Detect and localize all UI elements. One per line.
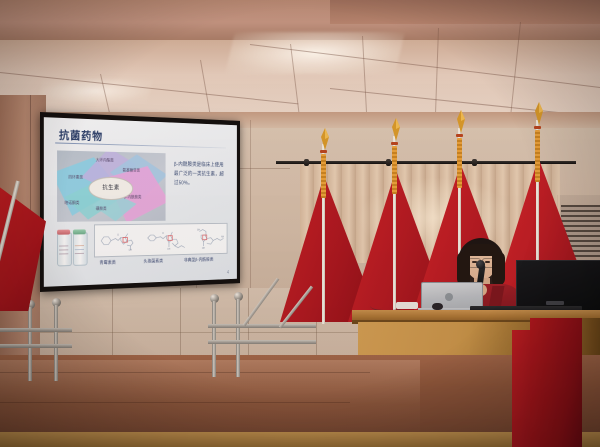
- stand-rail: [208, 324, 316, 328]
- structure-caption: 青霉素类: [99, 260, 115, 266]
- stand-post: [212, 301, 216, 377]
- vial: [73, 232, 88, 266]
- projection-screen-frame: 抗菌药物 大环内酯类 氨基糖苷类 四环素类 喹诺酮类 β-内酰胺类 磺胺类: [40, 112, 240, 292]
- flag-tassel-band: [456, 134, 463, 137]
- diagram-label: 氨基糖苷类: [123, 167, 140, 173]
- diagram-label: 四环素类: [68, 174, 83, 180]
- diagram-center: 抗生素: [89, 177, 134, 200]
- projection-screen: 抗菌药物 大环内酯类 氨基糖苷类 四环素类 喹诺酮类 β-内酰胺类 磺胺类: [44, 117, 237, 287]
- svg-text:OH: OH: [129, 250, 132, 252]
- presentation-slide: 抗菌药物 大环内酯类 氨基糖苷类 四环素类 喹诺酮类 β-内酰胺类 磺胺类: [44, 117, 237, 287]
- foreground-drape: [530, 318, 582, 447]
- slide-title: 抗菌药物: [59, 127, 103, 144]
- monitor-brand-label: [546, 301, 564, 305]
- conference-hall-photo: 抗菌药物 大环内酯类 氨基糖苷类 四环素类 喹诺酮类 β-内酰胺类 磺胺类: [0, 0, 600, 447]
- presenter-hair-side: [457, 252, 470, 286]
- svg-text:OH: OH: [197, 230, 200, 232]
- flag-tassel-band: [534, 126, 541, 129]
- flag-tassel: [535, 130, 540, 182]
- svg-text:O: O: [117, 235, 119, 237]
- stand-post: [236, 299, 240, 377]
- vial-label: [75, 249, 84, 251]
- vial-cap: [73, 229, 86, 234]
- diagram-center-label: 抗生素: [89, 182, 132, 191]
- wall-seam: [180, 288, 181, 356]
- flag-spear-tip-icon: [389, 118, 403, 141]
- microphone-head-icon: [476, 260, 485, 269]
- wall-seam: [40, 332, 370, 333]
- flag-spear-tip-icon: [318, 128, 332, 150]
- wall-seam: [112, 288, 113, 356]
- svg-text:O: O: [162, 233, 164, 235]
- flag-stand: [208, 290, 318, 380]
- presenter-hair-side: [492, 252, 505, 286]
- penicillin-structure: O OH: [99, 228, 140, 254]
- svg-text:OH: OH: [202, 248, 205, 250]
- flag-tassel: [457, 138, 462, 188]
- svg-text:OH: OH: [167, 249, 170, 251]
- stand-rail: [208, 340, 316, 344]
- flag-cloth: [0, 183, 46, 311]
- ceiling-beam-right: [330, 0, 600, 24]
- floor-seam: [0, 402, 350, 403]
- stand-rail: [0, 344, 72, 348]
- flag-spear-tip-icon: [532, 102, 546, 125]
- flag-tassel-band: [320, 150, 327, 153]
- vial-label: [75, 253, 84, 255]
- stand-diagonal: [279, 286, 313, 329]
- mouse[interactable]: [432, 303, 443, 310]
- foreground-flag: [0, 183, 68, 323]
- diagram-label: 大环内酯类: [96, 157, 114, 163]
- stand-rail: [0, 328, 72, 332]
- laptop-logo: [445, 293, 453, 301]
- svg-text:NH: NH: [221, 237, 224, 239]
- slide-body-text: β-内酰胺类是临床上使用最广泛的一类抗生素，超过50%。: [174, 160, 227, 188]
- diagram-label: 磺胺类: [96, 206, 107, 212]
- antibiotic-classes-diagram: 大环内酯类 氨基糖苷类 四环素类 喹诺酮类 β-内酰胺类 磺胺类 抗生素: [57, 150, 166, 221]
- flag-tassel: [321, 154, 326, 198]
- vial-label: [75, 245, 84, 247]
- atypical-betalactam-structure: OH NH OH: [195, 227, 227, 251]
- flag-tassel: [392, 146, 397, 194]
- slide-page-number: 4: [227, 270, 229, 276]
- structure-caption: 头孢菌素类: [143, 258, 163, 264]
- structure-caption: 非典型β-内酰胺类: [184, 257, 214, 263]
- wall-seam: [250, 120, 251, 290]
- desk-white-device[interactable]: [396, 302, 418, 309]
- stage-edge: [0, 432, 600, 447]
- chemical-structures-box: O OH O: [94, 223, 227, 258]
- flag-spear-tip-icon: [454, 110, 468, 133]
- slide-title-rule: [55, 142, 226, 148]
- cephalosporin-structure: O OH: [146, 227, 190, 252]
- flag-tassel-band: [391, 142, 398, 145]
